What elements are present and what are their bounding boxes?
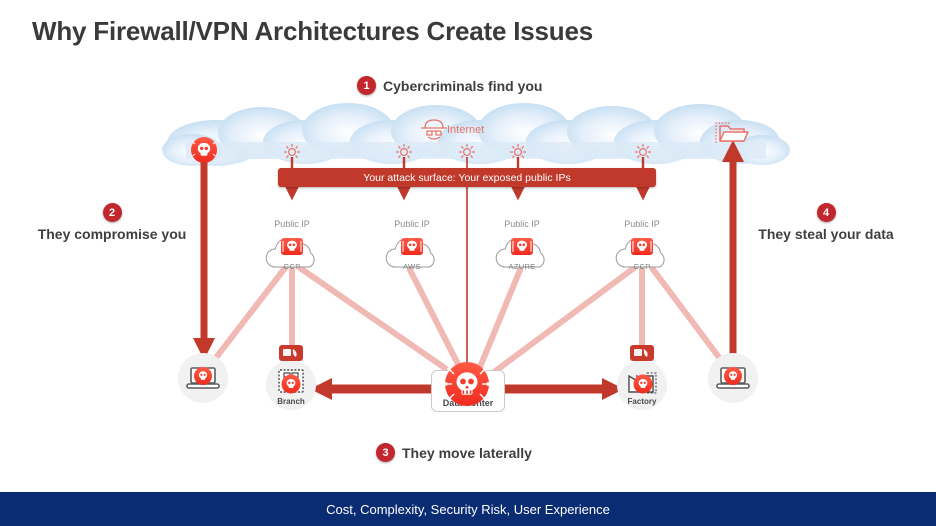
step-3-badge: 3	[376, 443, 395, 462]
attacker-skull-icon	[191, 137, 217, 163]
cloud-provider-name: AWS	[403, 262, 421, 271]
step-3-label: They move laterally	[402, 445, 532, 461]
cloud-provider-name: GCP	[283, 262, 300, 271]
endpoint-remote-user-right[interactable]	[708, 353, 758, 403]
footer-bar: Cost, Complexity, Security Risk, User Ex…	[0, 492, 936, 526]
cloud-node-gcp-1[interactable]: Public IP GCP	[261, 235, 323, 273]
skull-firewall-icon	[278, 236, 306, 258]
skull-firewall-icon	[508, 236, 536, 258]
cloud-node-gcp-2[interactable]: Public IP GCP	[611, 235, 673, 273]
attack-surface-label: Your attack surface: Your exposed public…	[363, 172, 570, 184]
step-1-label: Cybercriminals find you	[383, 78, 542, 94]
step-3-callout: 3 They move laterally	[376, 443, 532, 462]
breach-alert-icon	[276, 344, 306, 364]
exfiltration-arrow	[722, 140, 744, 360]
laptop-icon	[708, 353, 758, 403]
breach-alert-icon	[627, 344, 657, 364]
cloud-node-azure[interactable]: Public IP AZURE	[491, 235, 553, 273]
skull-icon	[443, 360, 491, 408]
slide-canvas: Why Firewall/VPN Architectures Create Is…	[0, 0, 936, 526]
skull-firewall-icon	[628, 236, 656, 258]
cloud-provider-name: AZURE	[509, 262, 536, 271]
step-1-badge: 1	[357, 76, 376, 95]
laptop-icon	[178, 353, 228, 403]
attack-surface-bar: Your attack surface: Your exposed public…	[278, 168, 656, 187]
endpoint-branch[interactable]: Branch	[266, 360, 316, 410]
cloud-provider-name: GCP	[633, 262, 650, 271]
step-4-callout: 4 They steal your data	[736, 203, 916, 242]
footer-text: Cost, Complexity, Security Risk, User Ex…	[326, 502, 610, 517]
endpoint-label-branch: Branch	[277, 397, 305, 406]
public-ip-caption: Public IP	[274, 219, 310, 229]
cloud-node-aws[interactable]: Public IP AWS	[381, 235, 443, 273]
step-1-callout: 1 Cybercriminals find you	[357, 76, 542, 95]
internet-label: Internet	[447, 124, 484, 136]
public-ip-caption: Public IP	[394, 219, 430, 229]
endpoint-label-factory: Factory	[628, 397, 657, 406]
public-ip-caption: Public IP	[504, 219, 540, 229]
step-4-badge: 4	[817, 203, 836, 222]
step-2-label: They compromise you	[38, 226, 187, 242]
endpoint-remote-user-left[interactable]	[178, 353, 228, 403]
skull-firewall-icon	[398, 236, 426, 258]
step-2-badge: 2	[103, 203, 122, 222]
endpoint-factory[interactable]: Factory	[617, 360, 667, 410]
compromise-arrow	[193, 162, 215, 360]
public-ip-caption: Public IP	[624, 219, 660, 229]
step-4-label: They steal your data	[758, 226, 893, 242]
step-2-callout: 2 They compromise you	[22, 203, 202, 242]
